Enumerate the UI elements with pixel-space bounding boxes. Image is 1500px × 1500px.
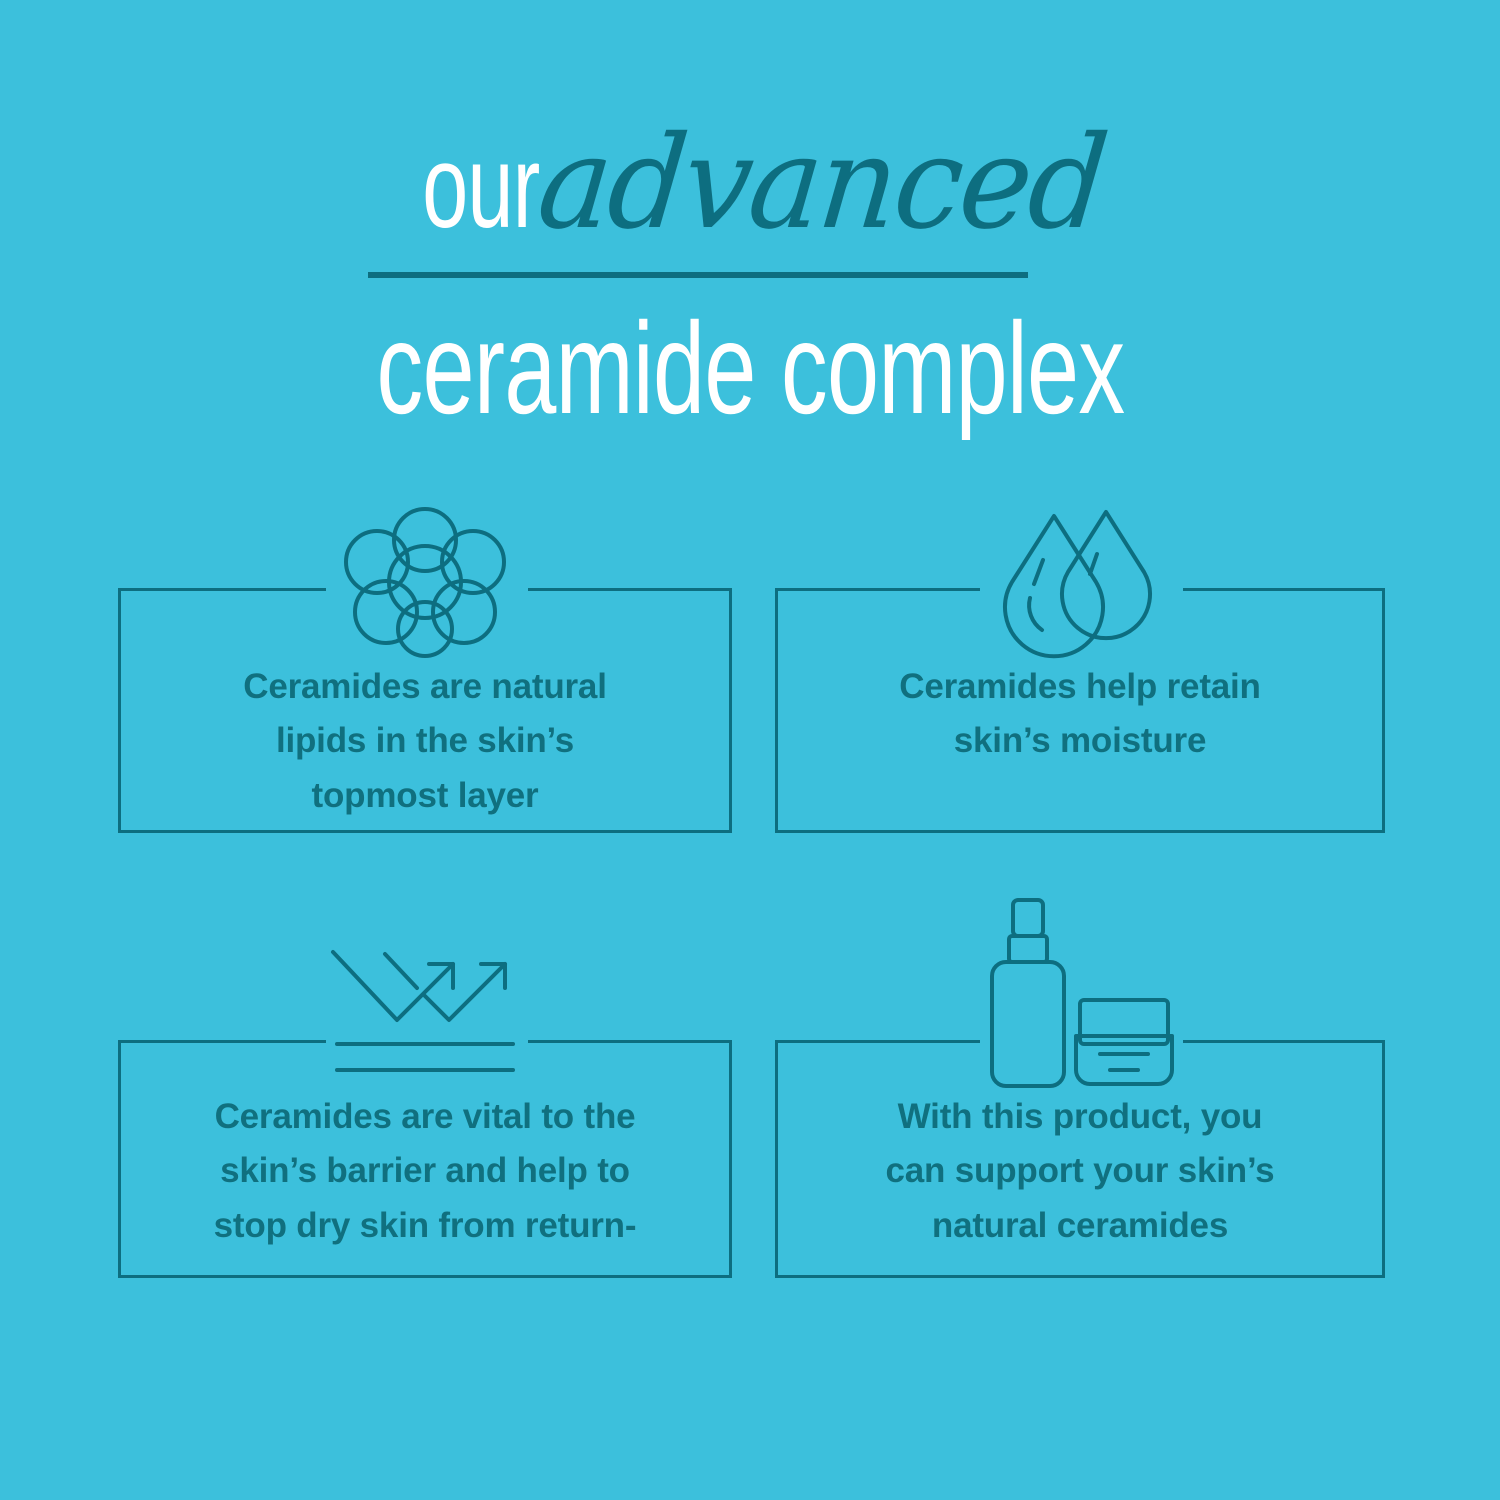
headline-word-our: our — [422, 128, 539, 246]
info-card-ceramide-lipids: Ceramides are natural lipids in the skin… — [118, 588, 732, 833]
card-border-top-left — [775, 1040, 980, 1043]
headline-line-two: ceramide complex — [0, 298, 1500, 438]
headline-ceramide-complex: ceramide complex — [376, 298, 1124, 438]
card-text-line: stop dry skin from return- — [144, 1199, 706, 1253]
card-border-top-right — [1183, 588, 1385, 591]
card-text-line: topmost layer — [144, 769, 706, 823]
card-border-top-right — [528, 588, 732, 591]
card-text-block: Ceramides are natural lipids in the skin… — [118, 660, 732, 823]
card-text-line: natural ceramides — [801, 1199, 1359, 1253]
card-text-line: lipids in the skin’s — [144, 714, 706, 768]
card-border-top-right — [1183, 1040, 1385, 1043]
card-text-line: With this product, you — [801, 1090, 1359, 1144]
headline-block: our advanced ceramide complex — [0, 120, 1500, 450]
card-border-top-left — [118, 588, 326, 591]
infographic-poster: our advanced ceramide complex Ceramides … — [0, 0, 1500, 1500]
card-text-block: With this product, you can support your … — [775, 1090, 1385, 1253]
headline-line-one: our advanced — [0, 120, 1500, 270]
card-text-line: can support your skin’s — [801, 1144, 1359, 1198]
card-text-block: Ceramides help retain skin’s moisture — [775, 660, 1385, 769]
card-text-line: Ceramides are natural — [144, 660, 706, 714]
info-card-product-support: With this product, you can support your … — [775, 1040, 1385, 1278]
card-text-line: skin’s moisture — [801, 714, 1359, 768]
info-card-moisture-retention: Ceramides help retain skin’s moisture — [775, 588, 1385, 833]
card-border-top-left — [118, 1040, 326, 1043]
info-card-skin-barrier: Ceramides are vital to the skin’s barrie… — [118, 1040, 732, 1278]
headline-underline-rule — [368, 272, 1028, 278]
card-text-block: Ceramides are vital to the skin’s barrie… — [118, 1090, 732, 1253]
card-border-top-left — [775, 588, 980, 591]
card-border-top-right — [528, 1040, 732, 1043]
card-text-line: Ceramides help retain — [801, 660, 1359, 714]
headline-word-advanced: advanced — [533, 120, 1111, 248]
card-text-line: skin’s barrier and help to — [144, 1144, 706, 1198]
card-text-line: Ceramides are vital to the — [144, 1090, 706, 1144]
